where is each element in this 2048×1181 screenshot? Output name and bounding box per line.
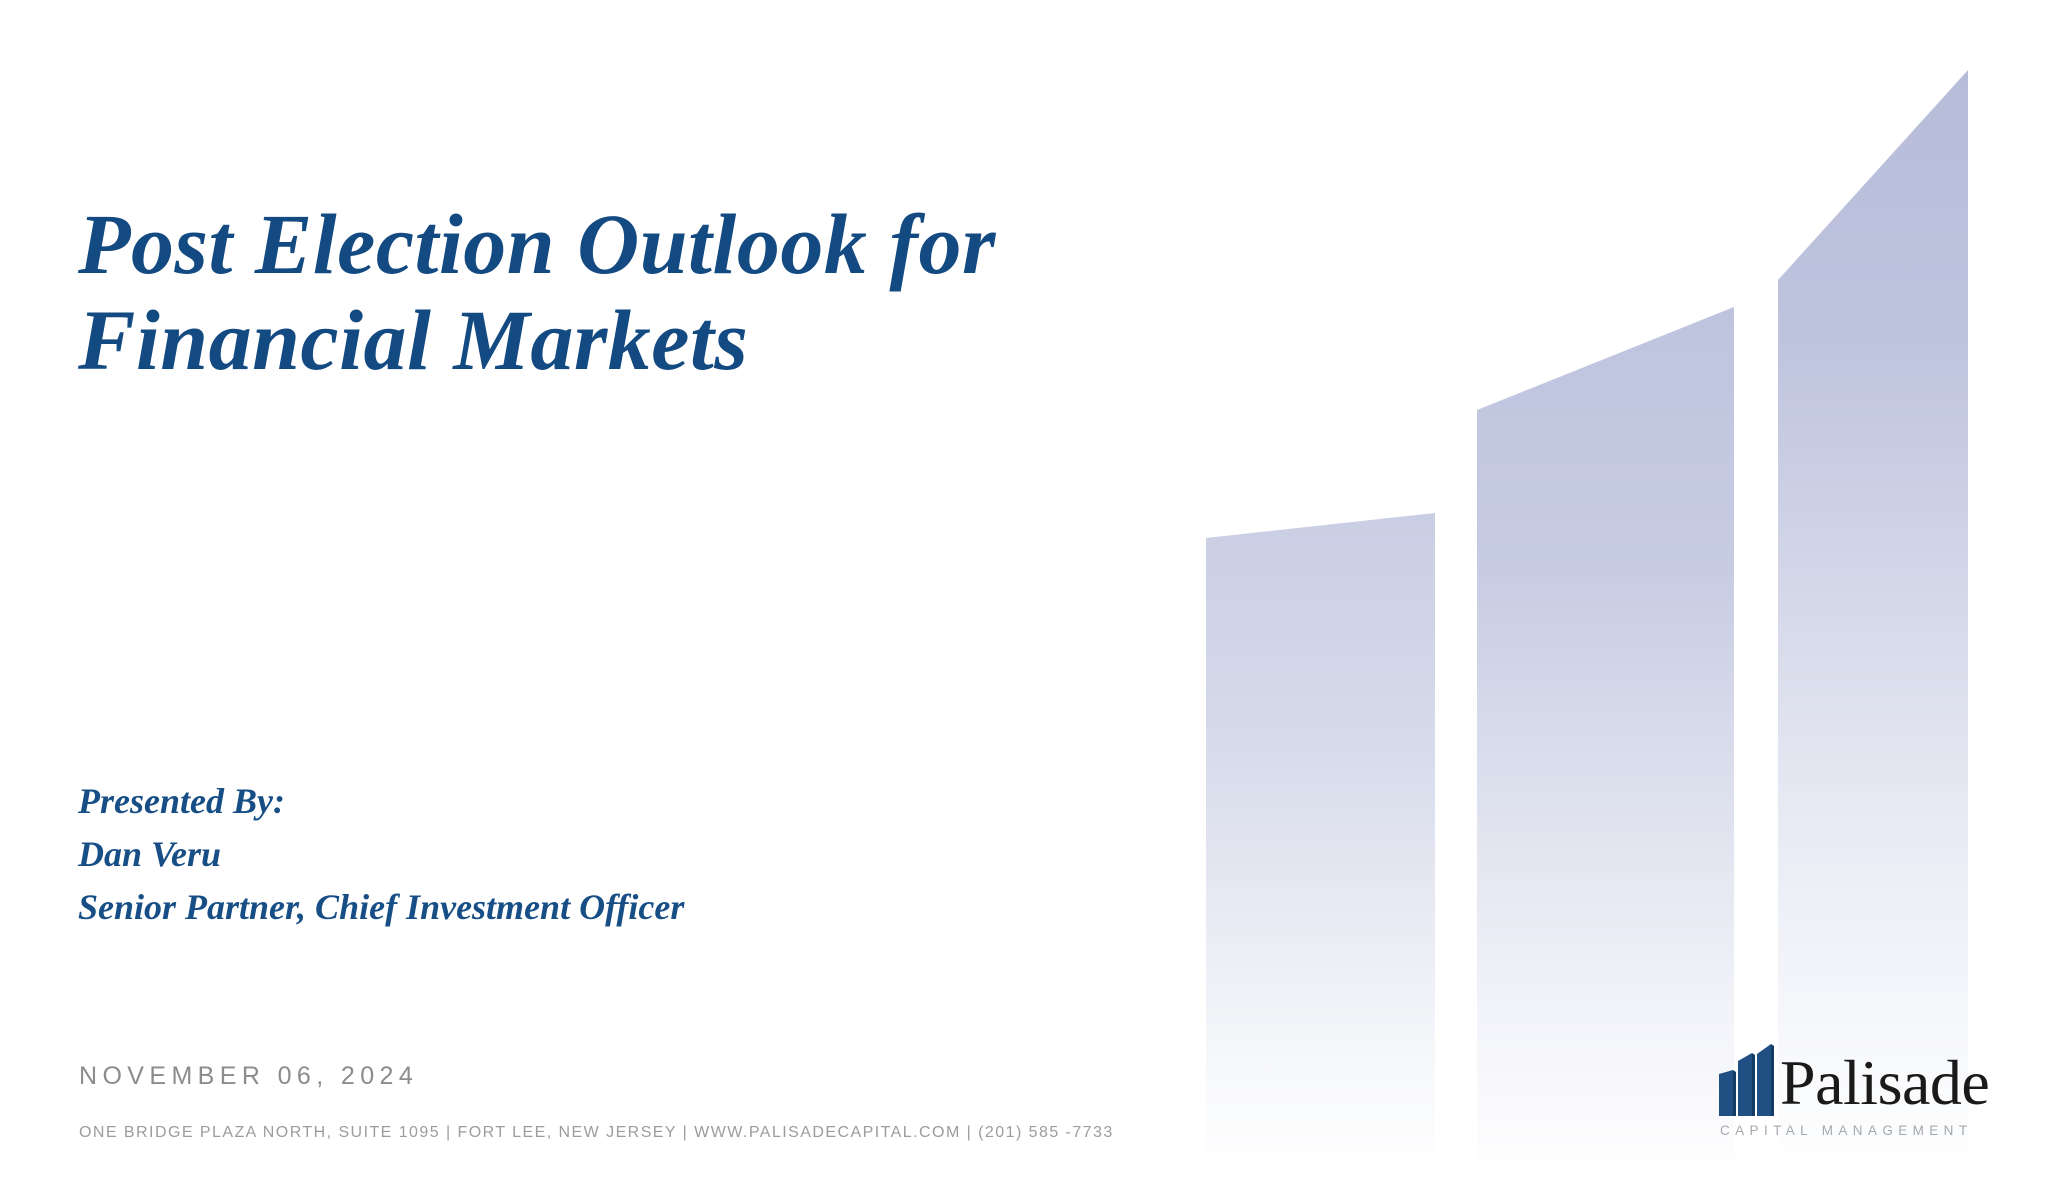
presenter-name: Dan Veru xyxy=(78,828,684,881)
presented-by-label: Presented By: xyxy=(78,775,684,828)
ascending-bars-graphic xyxy=(1150,0,2048,1181)
page-title: Post Election Outlook for Financial Mark… xyxy=(78,196,1258,388)
bg-bar-tall xyxy=(1778,70,1968,1181)
title-line-1: Post Election Outlook for xyxy=(78,196,1258,292)
ascending-bars-icon xyxy=(1718,1044,1774,1116)
bg-bar-mid xyxy=(1477,307,1734,1181)
presenter-role: Senior Partner, Chief Investment Officer xyxy=(78,881,684,934)
palisade-logo: Palisade CAPITAL MANAGEMENT xyxy=(1718,1044,1988,1144)
logo-wordmark: Palisade xyxy=(1780,1050,1989,1116)
company-address-footer: ONE BRIDGE PLAZA NORTH, SUITE 1095 | FOR… xyxy=(79,1124,1114,1142)
logo-tagline: CAPITAL MANAGEMENT xyxy=(1720,1123,1988,1138)
presentation-slide: Post Election Outlook for Financial Mark… xyxy=(0,0,2048,1181)
title-line-2: Financial Markets xyxy=(78,292,1258,388)
logo-row: Palisade xyxy=(1718,1044,1988,1116)
presenter-block: Presented By: Dan Veru Senior Partner, C… xyxy=(78,775,684,934)
bg-bar-short xyxy=(1206,513,1435,1181)
presentation-date: NOVEMBER 06, 2024 xyxy=(79,1062,418,1091)
